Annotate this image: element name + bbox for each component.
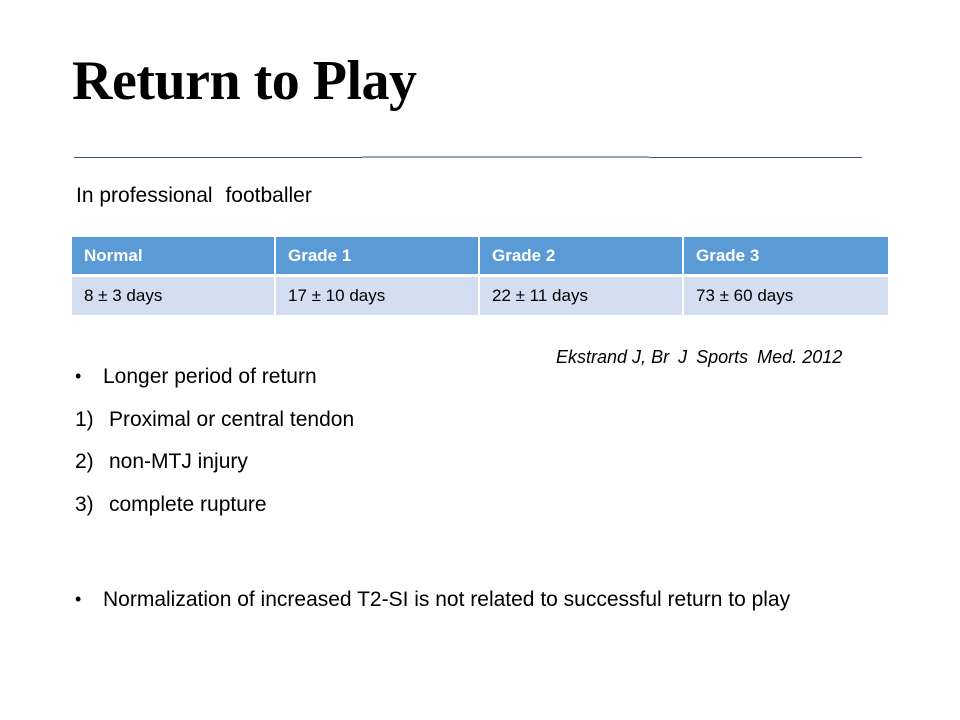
list-item-label: non-MTJ injury: [109, 449, 872, 475]
list-item-label: Longer period of return: [103, 364, 872, 390]
body-list: • Longer period of return 1) Proximal or…: [72, 364, 872, 534]
table-column-header-normal: Normal: [72, 237, 276, 274]
table-column-header-grade-1: Grade 1: [276, 237, 480, 274]
return-to-play-table: Normal Grade 1 Grade 2 Grade 3 8 ± 3 day…: [72, 237, 888, 315]
list-item-label: complete rupture: [109, 492, 872, 518]
list-number-marker: 2): [72, 449, 109, 475]
title-divider: [74, 156, 862, 158]
table-header: Normal Grade 1 Grade 2 Grade 3: [72, 237, 888, 274]
list-item: 2) non-MTJ injury: [72, 449, 872, 475]
list-item: 3) complete rupture: [72, 492, 872, 518]
table-cell-grade-2: 22 ± 11 days: [480, 274, 684, 315]
table-cell-normal: 8 ± 3 days: [72, 274, 276, 315]
slide-canvas: Return to Play In professional footballe…: [0, 0, 960, 720]
divider-segment-right: [649, 157, 862, 158]
list-number-marker: 3): [72, 492, 109, 518]
slide-subtitle: In professional footballer: [76, 183, 312, 208]
table-header-row: Normal Grade 1 Grade 2 Grade 3: [72, 237, 888, 274]
table-column-header-grade-3: Grade 3: [684, 237, 888, 274]
bullet-icon: •: [72, 586, 103, 613]
closing-statement-label: Normalization of increased T2-SI is not …: [103, 586, 862, 614]
closing-statement: • Normalization of increased T2-SI is no…: [72, 586, 862, 614]
list-item: 1) Proximal or central tendon: [72, 407, 872, 433]
subtitle-text-second: footballer: [225, 184, 311, 207]
bullet-icon: •: [72, 364, 103, 388]
table-row: 8 ± 3 days 17 ± 10 days 22 ± 11 days 73 …: [72, 274, 888, 315]
divider-segment-middle: [362, 156, 650, 158]
table-column-header-grade-2: Grade 2: [480, 237, 684, 274]
list-item: • Longer period of return: [72, 364, 872, 390]
table-cell-grade-1: 17 ± 10 days: [276, 274, 480, 315]
table-body: 8 ± 3 days 17 ± 10 days 22 ± 11 days 73 …: [72, 274, 888, 315]
list-item-label: Proximal or central tendon: [109, 407, 872, 433]
table-cell-grade-3: 73 ± 60 days: [684, 274, 888, 315]
list-number-marker: 1): [72, 407, 109, 433]
subtitle-text-first: In professional: [76, 184, 213, 207]
page-title: Return to Play: [72, 52, 417, 111]
divider-segment-left: [74, 157, 362, 158]
